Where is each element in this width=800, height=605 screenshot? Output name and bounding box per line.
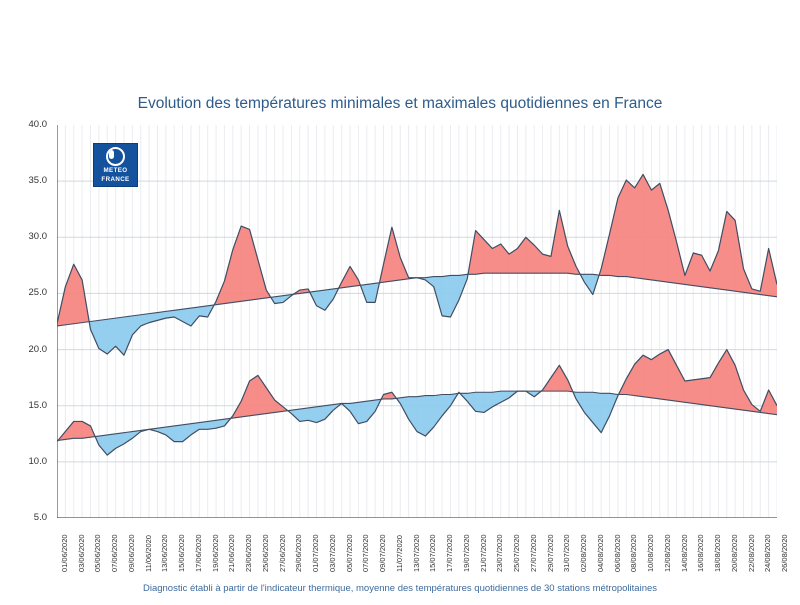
y-tick-label: 35.0 — [29, 175, 54, 186]
x-tick-label: 04/08/2020 — [596, 534, 605, 572]
x-tick-label: 27/06/2020 — [278, 534, 287, 572]
x-tick-label: 25/07/2020 — [512, 534, 521, 572]
x-tick-label: 17/06/2020 — [194, 534, 203, 572]
x-tick-label: 07/06/2020 — [110, 534, 119, 572]
chart-footnote: Diagnostic établi à partir de l'indicate… — [0, 583, 800, 594]
x-tick-label: 15/06/2020 — [177, 534, 186, 572]
x-tick-label: 22/08/2020 — [747, 534, 756, 572]
x-tick-label: 01/07/2020 — [311, 534, 320, 572]
y-tick-label: 10.0 — [29, 456, 54, 467]
y-tick-label: 40.0 — [29, 119, 54, 130]
x-tick-label: 02/08/2020 — [579, 534, 588, 572]
x-tick-label: 11/07/2020 — [395, 535, 404, 572]
x-tick-label: 17/07/2020 — [445, 534, 454, 572]
x-tick-label: 13/07/2020 — [412, 534, 421, 572]
x-tick-label: 23/07/2020 — [495, 534, 504, 572]
x-tick-label: 29/06/2020 — [294, 534, 303, 572]
x-tick-label: 12/08/2020 — [663, 534, 672, 572]
y-tick-label: 5.0 — [34, 512, 53, 523]
logo-text-line-2: FRANCE — [101, 176, 129, 184]
x-tick-label: 26/08/2020 — [780, 534, 789, 572]
x-tick-label: 07/07/2020 — [361, 534, 370, 572]
x-tick-label: 09/06/2020 — [127, 534, 136, 572]
x-tick-label: 18/08/2020 — [713, 534, 722, 572]
x-tick-label: 08/08/2020 — [629, 534, 638, 572]
y-tick-label: 15.0 — [29, 400, 54, 411]
x-tick-label: 19/07/2020 — [462, 534, 471, 572]
y-tick-label: 25.0 — [29, 287, 54, 298]
x-tick-label: 24/08/2020 — [763, 534, 772, 572]
x-tick-label: 21/06/2020 — [227, 534, 236, 572]
y-tick-label: 20.0 — [29, 344, 54, 355]
logo-text-line-1: METEO — [103, 167, 127, 175]
x-tick-label: 25/06/2020 — [261, 534, 270, 572]
x-tick-label: 13/06/2020 — [160, 534, 169, 572]
x-tick-label: 19/06/2020 — [211, 534, 220, 572]
x-tick-label: 01/06/2020 — [60, 534, 69, 572]
x-tick-label: 23/06/2020 — [244, 534, 253, 572]
meteo-france-logo: METEO FRANCE — [93, 143, 138, 187]
x-axis-ticks: 01/06/202003/06/202005/06/202007/06/2020… — [57, 520, 777, 578]
y-axis-ticks: 5.010.015.020.025.030.035.040.0 — [0, 125, 53, 518]
x-tick-label: 03/07/2020 — [328, 534, 337, 572]
x-tick-label: 14/08/2020 — [680, 534, 689, 572]
chart-title-line-1: Evolution des températures minimales et … — [0, 92, 800, 115]
x-tick-label: 31/07/2020 — [562, 534, 571, 572]
x-tick-label: 15/07/2020 — [428, 534, 437, 572]
x-tick-label: 27/07/2020 — [529, 534, 538, 572]
chart-plot-area — [57, 125, 777, 518]
x-tick-label: 29/07/2020 — [546, 534, 555, 572]
x-tick-label: 05/06/2020 — [93, 534, 102, 572]
x-tick-label: 05/07/2020 — [345, 534, 354, 572]
x-tick-label: 10/08/2020 — [646, 534, 655, 572]
x-tick-label: 21/07/2020 — [479, 534, 488, 572]
x-tick-label: 09/07/2020 — [378, 534, 387, 572]
x-tick-label: 11/06/2020 — [144, 535, 153, 572]
meteo-france-emblem-icon — [106, 147, 125, 166]
x-tick-label: 16/08/2020 — [696, 534, 705, 572]
y-tick-label: 30.0 — [29, 231, 54, 242]
x-tick-label: 06/08/2020 — [613, 534, 622, 572]
temperature-anomaly-chart — [57, 125, 777, 518]
x-tick-label: 20/08/2020 — [730, 534, 739, 572]
x-tick-label: 03/06/2020 — [77, 534, 86, 572]
